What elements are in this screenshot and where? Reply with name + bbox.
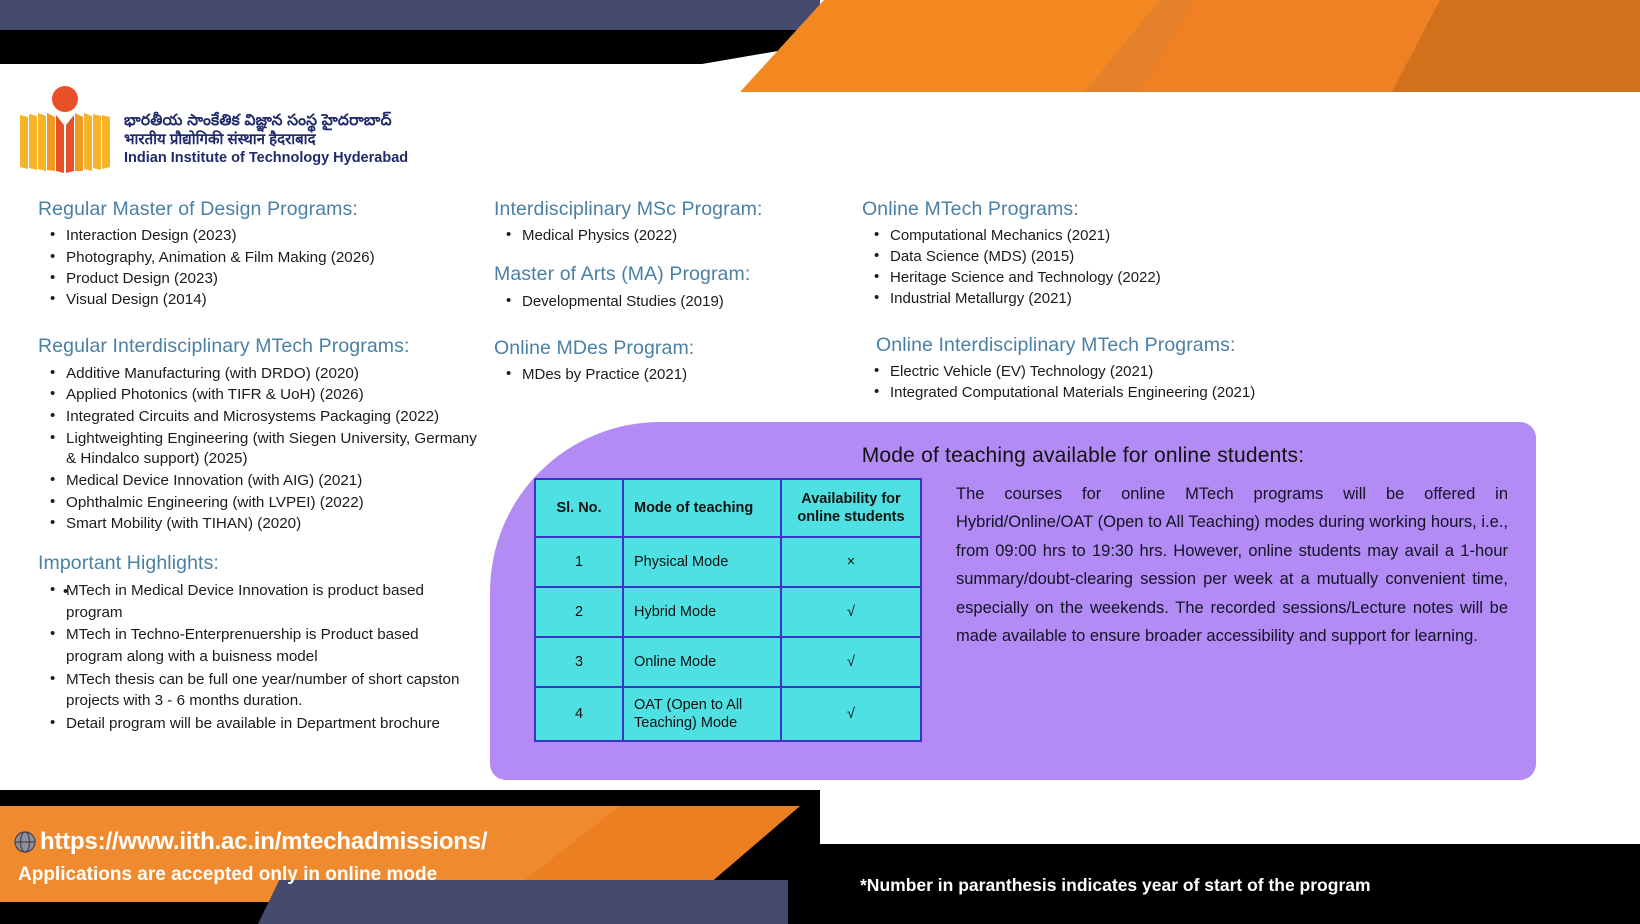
globe-icon (14, 831, 36, 853)
panel-title: Mode of teaching available for online st… (490, 444, 1536, 468)
column-header-mode: Mode of teaching (623, 479, 781, 537)
cell-availability: √ (781, 637, 921, 687)
mode-of-teaching-table: Sl. No. Mode of teaching Availability fo… (534, 478, 922, 742)
table-header-row: Sl. No. Mode of teaching Availability fo… (535, 479, 921, 537)
mode-of-teaching-panel: Mode of teaching available for online st… (490, 422, 1536, 780)
list-item: Product Design (2023) (38, 269, 478, 289)
list-item: Additive Manufacturing (with DRDO) (2020… (38, 364, 478, 385)
footer-note: *Number in paranthesis indicates year of… (860, 875, 1371, 896)
list-online-mtech: Computational Mechanics (2021) Data Scie… (862, 226, 1362, 309)
list-important-highlights: MTech in Medical Device Innovation is pr… (38, 580, 478, 734)
section-title-regular-mdes: Regular Master of Design Programs: (38, 196, 478, 222)
footer-navy-shape (258, 880, 788, 924)
section-title-important-highlights: Important Highlights: (38, 550, 478, 576)
cell-mode: OAT (Open to All Teaching) Mode (623, 687, 781, 741)
admissions-url-text: https://www.iith.ac.in/mtechadmissions/ (40, 828, 487, 856)
admissions-url[interactable]: https://www.iith.ac.in/mtechadmissions/ (14, 828, 487, 856)
logo-telugu-text: భారతీయ సాంకేతిక విజ్ఞాన సంస్థ హైదరాబాద్ (124, 111, 408, 130)
cell-mode: Physical Mode (623, 537, 781, 587)
section-title-regular-interdisciplinary-mtech: Regular Interdisciplinary MTech Programs… (38, 333, 478, 359)
section-title-interdisciplinary-msc: Interdisciplinary MSc Program: (494, 196, 854, 222)
list-regular-mdes: Interaction Design (2023) Photography, A… (38, 226, 478, 310)
list-item: Integrated Circuits and Microsystems Pac… (38, 407, 478, 428)
panel-paragraph: The courses for online MTech programs wi… (956, 480, 1508, 650)
list-item: Interaction Design (2023) (38, 226, 478, 246)
list-interdisciplinary-msc: Medical Physics (2022) (494, 226, 854, 246)
list-item: Lightweighting Engineering (with Siegen … (38, 429, 478, 470)
list-item: Computational Mechanics (2021) (862, 226, 1362, 246)
iith-logo: భారతీయ సాంకేతిక విజ్ఞాన సంస్థ హైదరాబాద్ … (18, 85, 408, 173)
list-item: MTech in Techno-Enterprenuership is Prod… (38, 624, 478, 667)
list-item: Developmental Studies (2019) (494, 292, 854, 312)
footer-subtitle: Applications are accepted only in online… (18, 864, 437, 886)
cell-sl-no: 4 (535, 687, 623, 741)
list-online-interdisciplinary-mtech: Electric Vehicle (EV) Technology (2021) … (862, 362, 1362, 403)
logo-english-text: Indian Institute of Technology Hyderabad (124, 149, 408, 169)
list-item: Detail program will be available in Depa… (38, 713, 478, 735)
section-title-online-interdisciplinary-mtech: Online Interdisciplinary MTech Programs: (862, 332, 1362, 358)
cell-availability: × (781, 537, 921, 587)
list-master-of-arts: Developmental Studies (2019) (494, 292, 854, 312)
table-row: 1 Physical Mode × (535, 537, 921, 587)
table-row: 3 Online Mode √ (535, 637, 921, 687)
list-item: Smart Mobility (with TIHAN) (2020) (38, 514, 478, 535)
cell-mode: Hybrid Mode (623, 587, 781, 637)
list-item: Electric Vehicle (EV) Technology (2021) (862, 362, 1362, 382)
list-item: Photography, Animation & Film Making (20… (38, 248, 478, 268)
list-item: Heritage Science and Technology (2022) (862, 268, 1362, 288)
list-item: Applied Photonics (with TIFR & UoH) (202… (38, 385, 478, 406)
table-row: 2 Hybrid Mode √ (535, 587, 921, 637)
list-item: Data Science (MDS) (2015) (862, 247, 1362, 267)
header-black-bar (0, 30, 900, 64)
list-item: Ophthalmic Engineering (with LVPEI) (202… (38, 493, 478, 514)
cell-sl-no: 1 (535, 537, 623, 587)
list-item: MTech in Medical Device Innovation is pr… (38, 580, 478, 623)
left-column: Regular Master of Design Programs: Inter… (38, 196, 478, 735)
right-column: Online MTech Programs: Computational Mec… (862, 196, 1362, 404)
cell-sl-no: 2 (535, 587, 623, 637)
cell-availability: √ (781, 587, 921, 637)
section-title-online-mtech: Online MTech Programs: (862, 196, 1362, 222)
list-item: MTech thesis can be full one year/number… (38, 669, 478, 712)
list-item: MDes by Practice (2021) (494, 365, 854, 385)
list-item: Medical Physics (2022) (494, 226, 854, 246)
cell-availability: √ (781, 687, 921, 741)
list-item: Integrated Computational Materials Engin… (862, 383, 1362, 403)
list-item: Medical Device Innovation (with AIG) (20… (38, 471, 478, 492)
section-title-master-of-arts: Master of Arts (MA) Program: (494, 261, 854, 287)
table-row: 4 OAT (Open to All Teaching) Mode √ (535, 687, 921, 741)
iith-open-book-logo-icon (18, 85, 112, 173)
stray-bullet-marker: • (63, 584, 68, 599)
column-header-availability: Availability for online students (781, 479, 921, 537)
cell-mode: Online Mode (623, 637, 781, 687)
logo-hindi-text: भारतीय प्रौद्योगिकी संस्थान हैदराबाद (124, 130, 408, 150)
list-online-mdes: MDes by Practice (2021) (494, 365, 854, 385)
middle-column: Interdisciplinary MSc Program: Medical P… (494, 196, 854, 386)
list-regular-interdisciplinary-mtech: Additive Manufacturing (with DRDO) (2020… (38, 364, 478, 535)
list-item: Industrial Metallurgy (2021) (862, 289, 1362, 309)
column-header-sl-no: Sl. No. (535, 479, 623, 537)
cell-sl-no: 3 (535, 637, 623, 687)
list-item: Visual Design (2014) (38, 290, 478, 310)
section-title-online-mdes: Online MDes Program: (494, 335, 854, 361)
